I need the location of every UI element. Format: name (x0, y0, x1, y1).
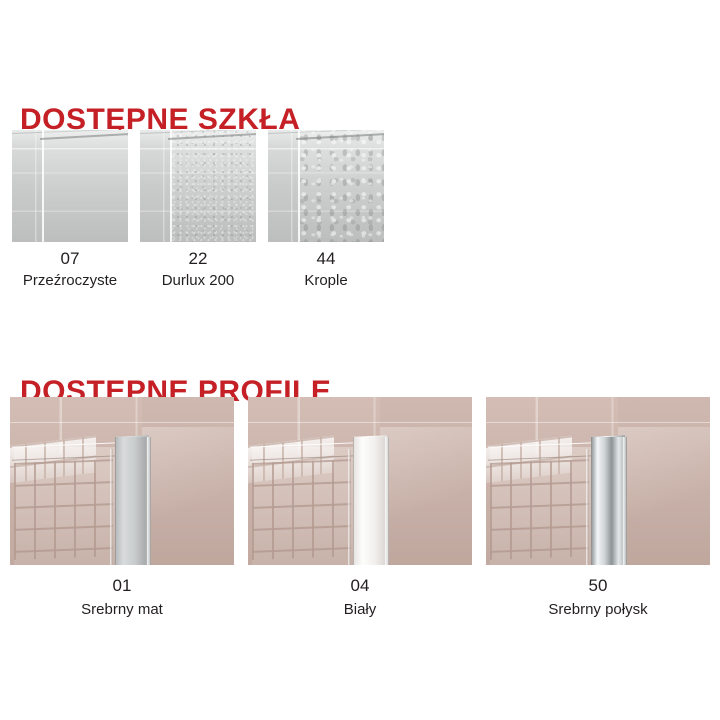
profile-name: Srebrny połysk (548, 601, 647, 618)
glass-durlux-swatch[interactable] (140, 130, 256, 242)
glass-grain-overlay (172, 130, 256, 242)
window-grid-pattern (490, 459, 589, 560)
profile-code: 01 (81, 576, 163, 596)
glass-code: 07 (23, 249, 117, 269)
bathroom-scene (486, 397, 710, 565)
profile-sample-50[interactable]: 50 Srebrny połysk (486, 397, 710, 618)
glass-clear-swatch[interactable] (12, 130, 128, 242)
profile-post (591, 437, 627, 565)
profile-name: Srebrny mat (81, 601, 163, 618)
glass-code: 22 (162, 249, 235, 269)
profile-caption-50: 50 Srebrny połysk (548, 565, 647, 618)
glass-name: Krople (304, 272, 347, 289)
bathroom-scene (10, 397, 234, 565)
glass-sample-44[interactable]: 44 Krople (268, 130, 384, 289)
bathroom-scene (248, 397, 472, 565)
profile-post-edge (385, 437, 389, 565)
profile-code: 04 (344, 576, 377, 596)
profile-post (115, 437, 151, 565)
window-grid-pattern (14, 459, 113, 560)
window-grid-pattern (252, 459, 351, 560)
profile-name: Biały (344, 601, 377, 618)
profile-caption-01: 01 Srebrny mat (81, 565, 163, 618)
glass-caption-44: 44 Krople (304, 242, 347, 289)
door-stile (110, 449, 113, 565)
glass-code: 44 (304, 249, 347, 269)
profile-sample-04[interactable]: 04 Biały (248, 397, 472, 618)
glass-caption-22: 22 Durlux 200 (162, 242, 235, 289)
glass-sample-row: 07 Przeźroczyste 22 Durlux 200 (12, 130, 384, 289)
profile-sample-row: 01 Srebrny mat (10, 397, 712, 618)
catalog-page: DOSTĘPNE SZKŁA 07 Przeźroczyste (0, 0, 720, 720)
profile-silver-matte-swatch[interactable] (10, 397, 234, 565)
glass-name: Przeźroczyste (23, 272, 117, 289)
profile-silver-gloss-swatch[interactable] (486, 397, 710, 565)
glass-sample-07[interactable]: 07 Przeźroczyste (12, 130, 128, 289)
profile-code: 50 (548, 576, 647, 596)
profile-white-swatch[interactable] (248, 397, 472, 565)
glass-name: Durlux 200 (162, 272, 235, 289)
door-stile (586, 449, 589, 565)
profile-post-edge (623, 437, 627, 565)
door-stile (348, 449, 351, 565)
glass-pane-edge (42, 130, 128, 242)
glass-caption-07: 07 Przeźroczyste (23, 242, 117, 289)
profile-caption-04: 04 Biały (344, 565, 377, 618)
profile-post (353, 437, 389, 565)
glass-krople-swatch[interactable] (268, 130, 384, 242)
glass-droplet-overlay (300, 130, 384, 242)
profile-sample-01[interactable]: 01 Srebrny mat (10, 397, 234, 618)
glass-sample-22[interactable]: 22 Durlux 200 (140, 130, 256, 289)
profile-post-edge (147, 437, 151, 565)
